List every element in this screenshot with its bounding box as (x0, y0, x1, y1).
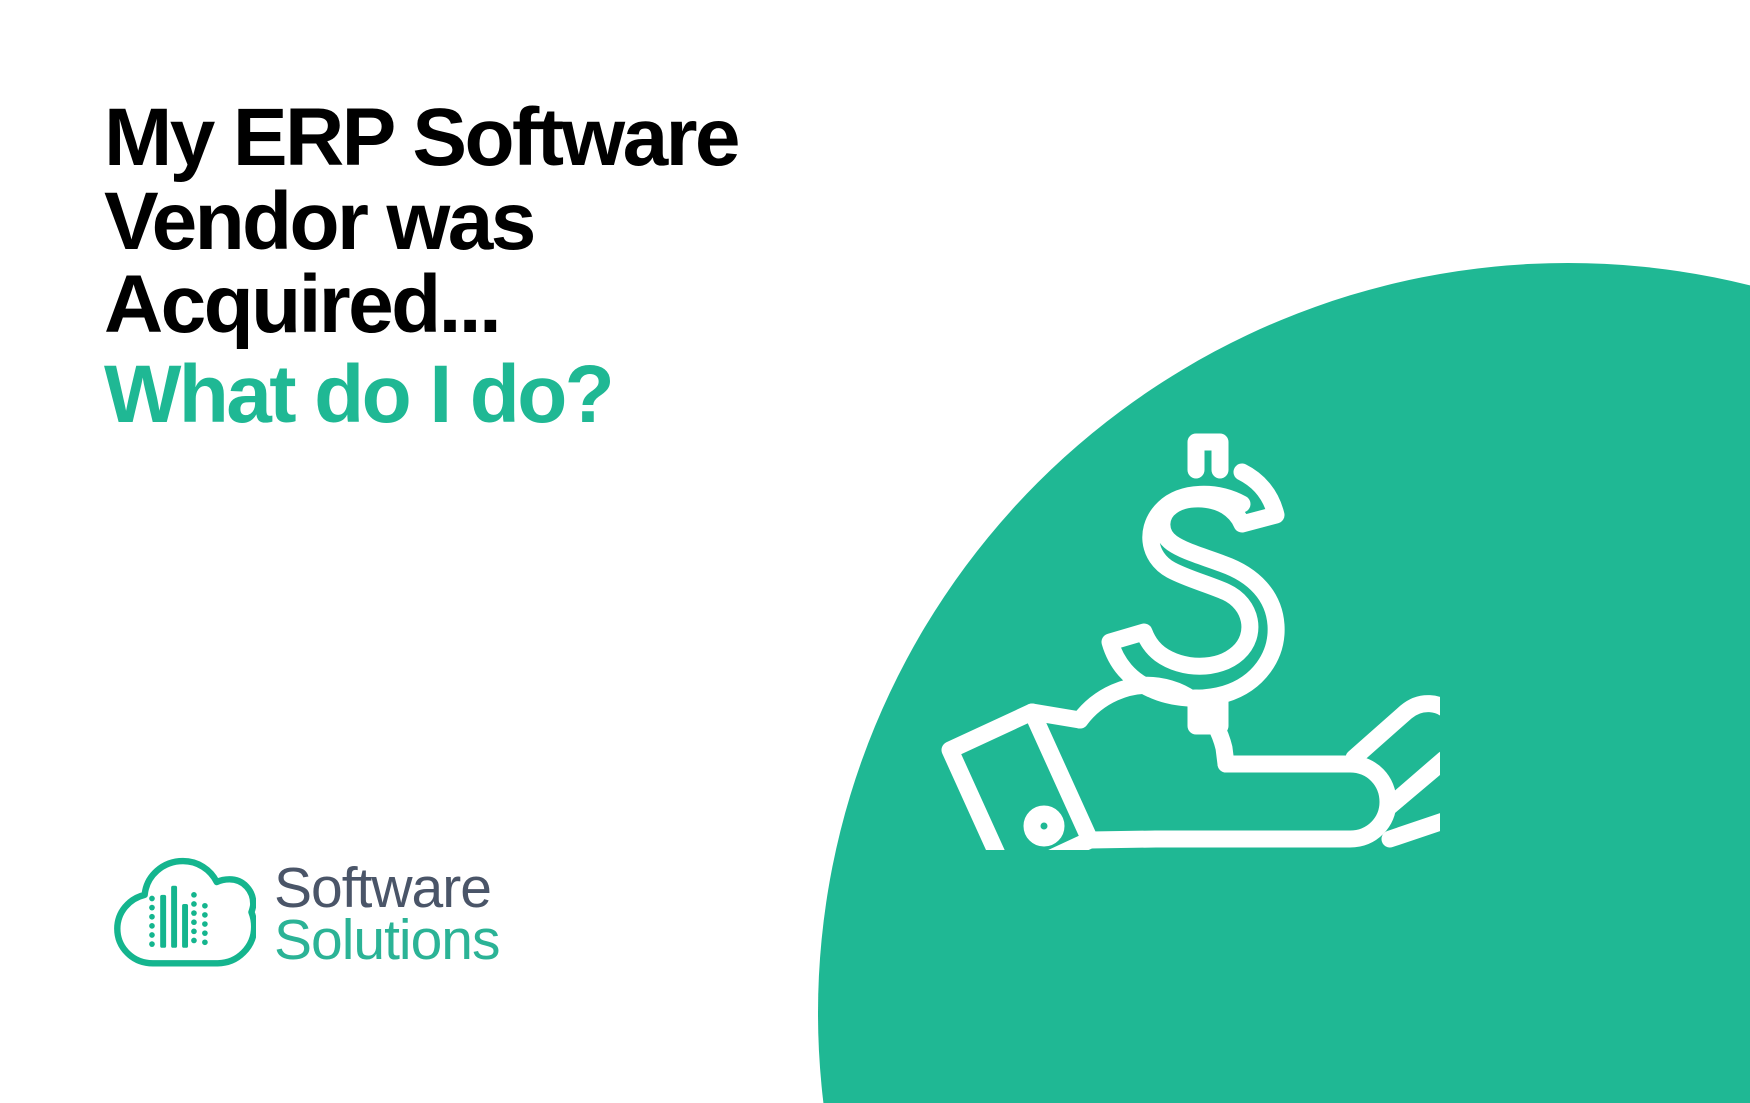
headline-accent-line: What do I do? (104, 353, 964, 437)
marketing-banner: My ERP Software Vendor was Acquired... W… (0, 0, 1750, 1103)
hand-holding-dollar-icon (920, 420, 1440, 850)
headline-line-3: Acquired... (104, 263, 964, 347)
headline-line-2: Vendor was (104, 180, 964, 264)
headline-line-1: My ERP Software (104, 96, 964, 180)
cloud-with-bar-chart-icon (110, 855, 256, 973)
logo-word-solutions: Solutions (274, 914, 500, 966)
brand-logo: Software Solutions (110, 855, 500, 973)
logo-word-software: Software (274, 862, 500, 914)
logo-wordmark: Software Solutions (274, 862, 500, 967)
page-title: My ERP Software Vendor was Acquired... W… (104, 96, 964, 437)
